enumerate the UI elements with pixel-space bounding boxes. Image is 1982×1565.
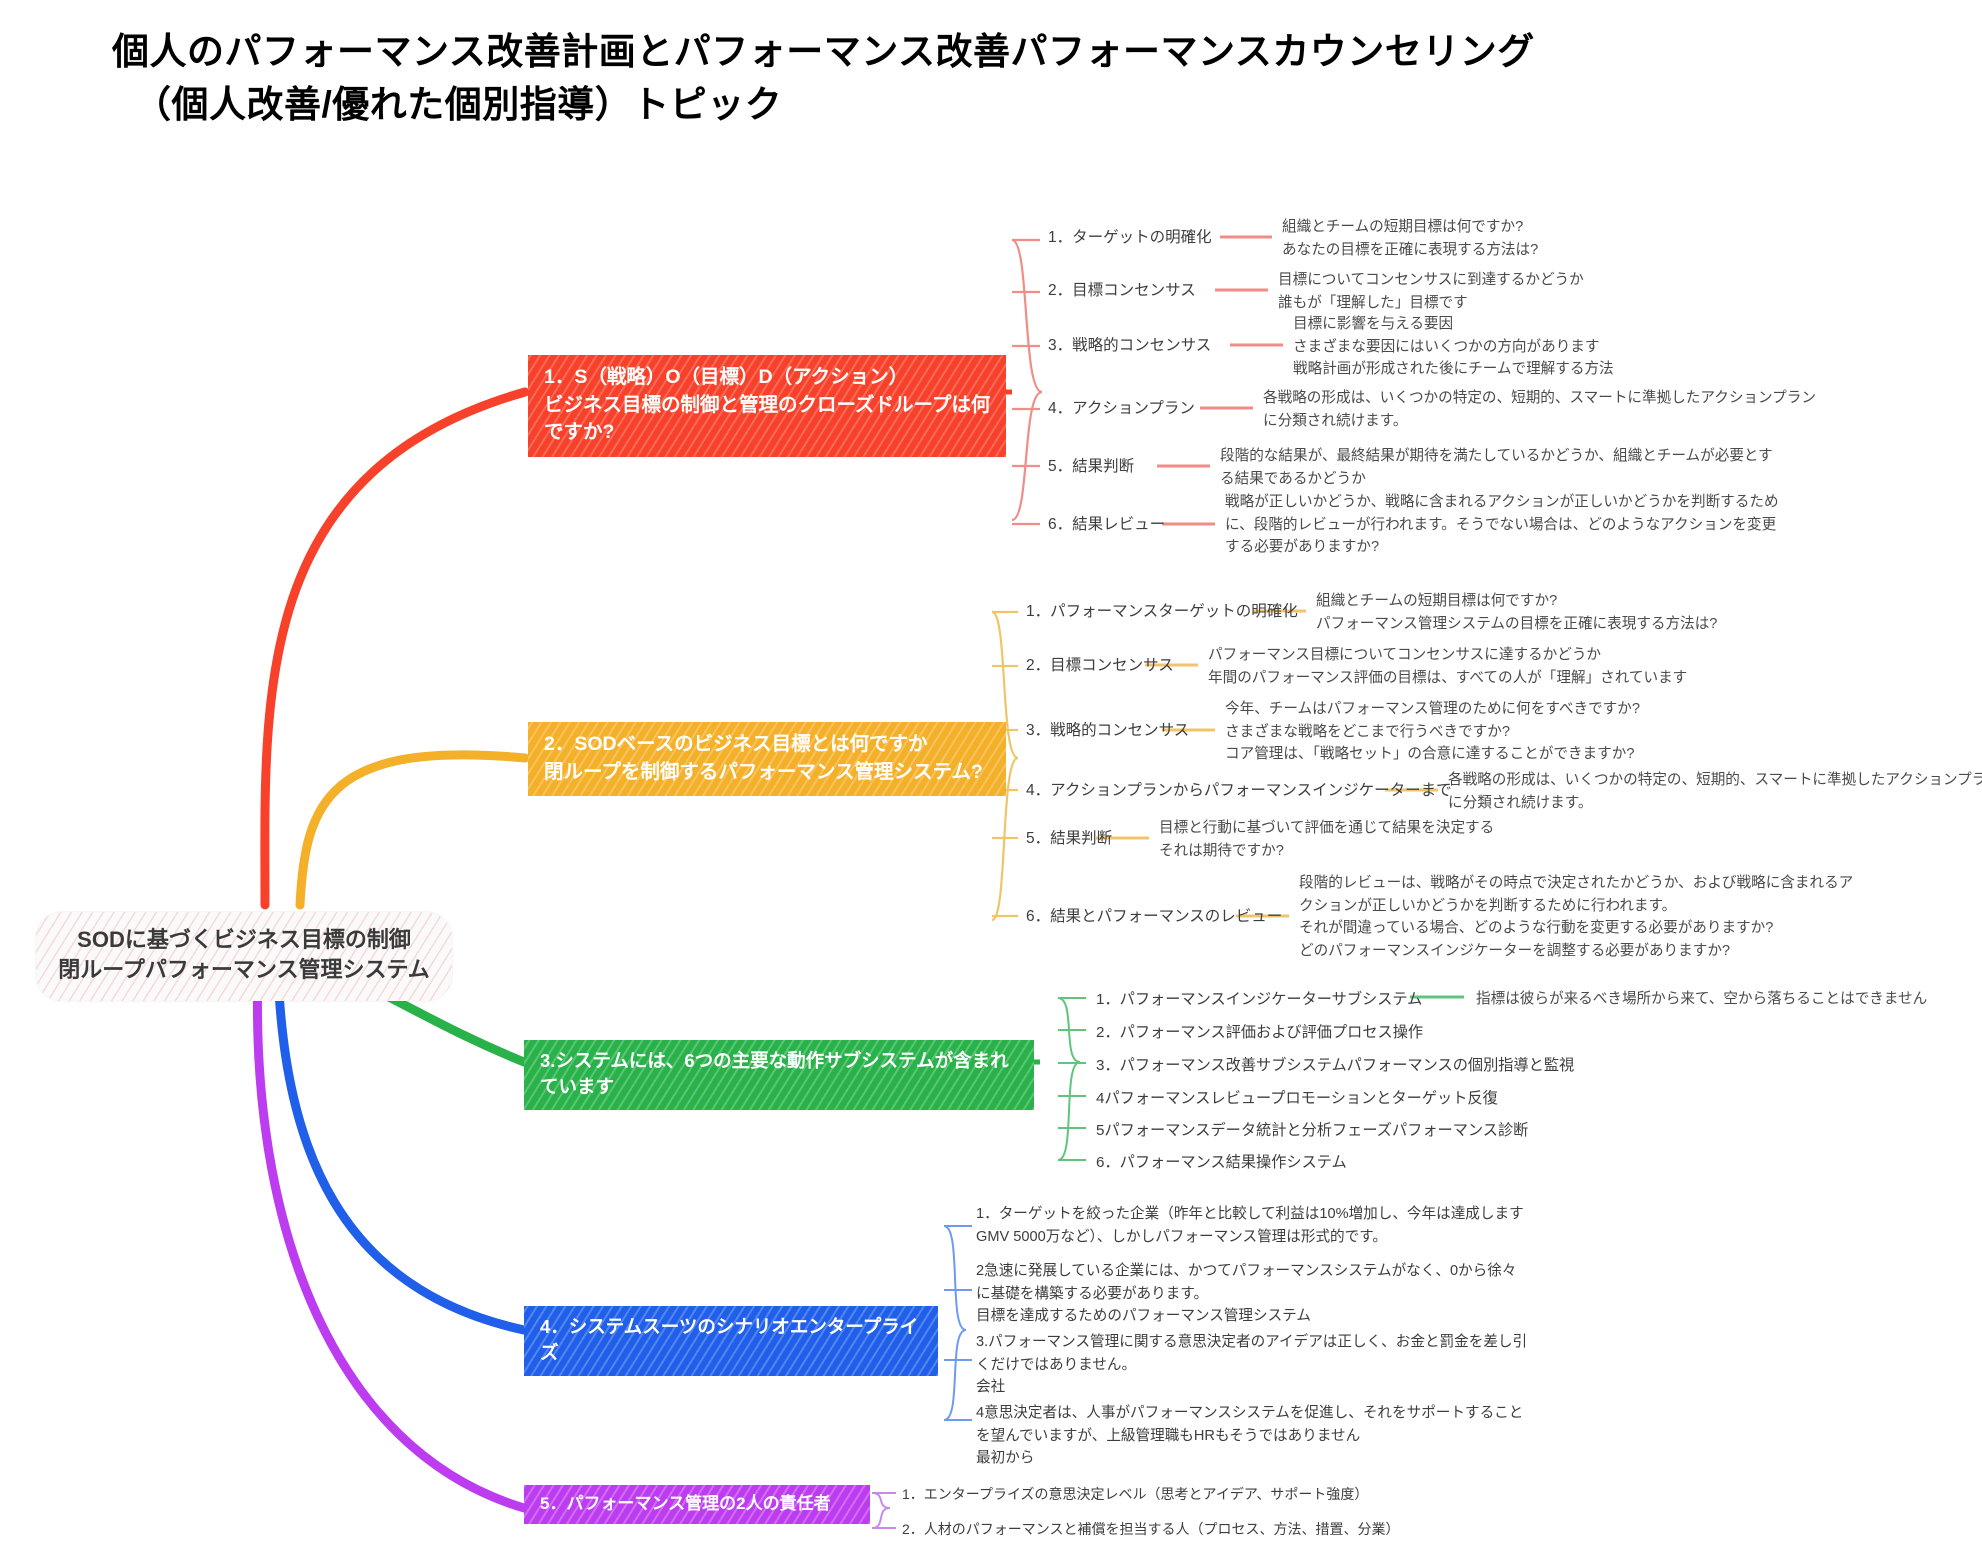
branch-node-1-line2: ビジネス目標の制御と管理のクローズドループは何ですか?: [544, 392, 992, 447]
link-branch-4-stubs: [944, 1226, 972, 1420]
link-root-branch-5: [257, 972, 524, 1508]
node-1-3-desc: 目標に影響を与える要因 さまざまな要因にはいくつかの方向があります 戦略計画が形…: [1293, 313, 1614, 381]
branch-node-3-line1: 3.システムには、6つの主要な動作サブシステムが含まれています: [540, 1048, 1020, 1101]
link-branch-3-fan: [1058, 998, 1080, 1160]
node-2-6-label[interactable]: 6．結果とパフォーマンスのレビュー: [1026, 906, 1282, 928]
link-root-branch-1: [265, 392, 525, 905]
node-1-5-label[interactable]: 5．結果判断: [1048, 456, 1134, 478]
node-4-1-label[interactable]: 1．ターゲットを絞った企業（昨年と比較して利益は10%増加し、今年は達成します …: [976, 1203, 1524, 1248]
node-2-6-desc: 段階的レビューは、戦略がその時点で決定されたかどうか、および戦略に含まれるア ク…: [1299, 872, 1853, 962]
node-2-1-label[interactable]: 1．パフォーマンスターゲットの明確化: [1026, 601, 1298, 623]
node-2-2-desc: パフォーマンス目標についてコンセンサスに達するかどうか 年間のパフォーマンス評価…: [1208, 644, 1687, 689]
branch-node-4[interactable]: 4．システムスーツのシナリオエンタープライズ: [524, 1306, 938, 1376]
branch-node-4-line1: 4．システムスーツのシナリオエンタープライズ: [540, 1314, 924, 1367]
node-1-3-label[interactable]: 3．戦略的コンセンサス: [1048, 335, 1211, 357]
node-3-6-label[interactable]: 6．パフォーマンス結果操作システム: [1096, 1150, 1347, 1172]
node-4-4-label[interactable]: 4意思決定者は、人事がパフォーマンスシステムを促進し、それをサポートすること を…: [976, 1402, 1523, 1470]
node-1-4-label[interactable]: 4．アクションプラン: [1048, 398, 1195, 420]
link-branch-5-fan: [872, 1493, 890, 1528]
node-1-2-label[interactable]: 2．目標コンセンサス: [1048, 280, 1196, 302]
branch-node-1-line1: 1．S（戦略）O（目標）D（アクション）: [544, 364, 992, 392]
link-root-branch-4: [278, 972, 524, 1330]
link-root-branch-2: [300, 755, 525, 905]
node-4-3-label[interactable]: 3.パフォーマンス管理に関する意思決定者のアイデアは正しく、お金と罰金を差し引 …: [976, 1331, 1527, 1399]
root-node-line2: 閉ループパフォーマンス管理システム: [46, 955, 442, 985]
node-5-1-label[interactable]: 1．エンタープライズの意思決定レベル（思考とアイデア、サポート強度）: [902, 1484, 1368, 1504]
link-branch-1-stubs: [1012, 240, 1040, 524]
branch-node-3[interactable]: 3.システムには、6つの主要な動作サブシステムが含まれています: [524, 1040, 1034, 1110]
node-2-3-desc: 今年、チームはパフォーマンス管理のために何をすべきですか? さまざまな戦略をどこ…: [1225, 698, 1640, 766]
branch-node-5[interactable]: 5．パフォーマンス管理の2人の責任者: [524, 1485, 870, 1524]
node-2-1-desc: 組織とチームの短期目標は何ですか? パフォーマンス管理システムの目標を正確に表現…: [1316, 590, 1717, 635]
node-1-1-label[interactable]: 1．ターゲットの明確化: [1048, 227, 1212, 249]
link-branch-3-stubs: [1058, 998, 1086, 1160]
node-2-2-label[interactable]: 2．目標コンセンサス: [1026, 655, 1174, 677]
node-1-6-label[interactable]: 6．結果レビュー: [1048, 514, 1165, 536]
node-3-4-label[interactable]: 4パフォーマンスレビュープロモーションとターゲット反復: [1096, 1086, 1498, 1108]
node-2-5-desc: 目標と行動に基づいて評価を通じて結果を決定する それは期待ですか?: [1159, 817, 1494, 862]
branch-node-2-line1: 2．SODベースのビジネス目標とは何ですか: [544, 731, 992, 759]
branch-node-2-line2: 閉ループを制御するパフォーマンス管理システム?: [544, 759, 992, 787]
node-1-5-desc: 段階的な結果が、最終結果が期待を満たしているかどうか、組織とチームが必要とす る…: [1220, 445, 1773, 490]
root-node-line1: SODに基づくビジネス目標の制御: [46, 925, 442, 955]
page-title-line2: （個人改善/優れた個別指導）トピック: [112, 79, 1872, 132]
node-2-3-label[interactable]: 3．戦略的コンセンサス: [1026, 720, 1189, 742]
branch-node-2[interactable]: 2．SODベースのビジネス目標とは何ですか 閉ループを制御するパフォーマンス管理…: [528, 722, 1006, 796]
node-1-1-desc: 組織とチームの短期目標は何ですか? あなたの目標を正確に表現する方法は?: [1282, 216, 1538, 261]
node-1-6-desc: 戦略が正しいかどうか、戦略に含まれるアクションが正しいかどうかを判断するため に…: [1225, 491, 1779, 559]
page-title-line1: 個人のパフォーマンス改善計画とパフォーマンス改善パフォーマンスカウンセリング: [112, 31, 1535, 72]
node-2-5-label[interactable]: 5．結果判断: [1026, 828, 1112, 850]
node-1-2-desc: 目標についてコンセンサスに到達するかどうか 誰もが「理解した」目標です: [1278, 269, 1584, 314]
node-3-1-label[interactable]: 1．パフォーマンスインジケーターサブシステム: [1096, 987, 1422, 1009]
node-2-4-label[interactable]: 4．アクションプランからパフォーマンスインジケーターまで: [1026, 780, 1452, 802]
node-5-2-label[interactable]: 2．人材のパフォーマンスと補償を担当する人（プロセス、方法、措置、分業）: [902, 1519, 1400, 1539]
mindmap-canvas: 個人のパフォーマンス改善計画とパフォーマンス改善パフォーマンスカウンセリング （…: [0, 0, 1982, 1565]
link-branch-5-stubs: [872, 1493, 896, 1528]
page-title: 個人のパフォーマンス改善計画とパフォーマンス改善パフォーマンスカウンセリング （…: [112, 26, 1872, 131]
node-3-3-label[interactable]: 3．パフォーマンス改善サブシステムパフォーマンスの個別指導と監視: [1096, 1053, 1574, 1075]
node-2-4-desc: 各戦略の形成は、いくつかの特定の、短期的、スマートに準拠したアクションプラン に…: [1448, 769, 1982, 814]
link-branch-1-fan: [1012, 240, 1042, 520]
node-3-5-label[interactable]: 5パフォーマンスデータ統計と分析フェーズパフォーマンス診断: [1096, 1118, 1528, 1140]
node-3-2-label[interactable]: 2．パフォーマンス評価および評価プロセス操作: [1096, 1020, 1423, 1042]
link-branch-4-fan: [944, 1226, 966, 1420]
node-4-2-label[interactable]: 2急速に発展している企業には、かつてパフォーマンスシステムがなく、0から徐々 に…: [976, 1260, 1516, 1328]
root-node[interactable]: SODに基づくビジネス目標の制御 閉ループパフォーマンス管理システム: [36, 912, 452, 1001]
node-3-1-desc: 指標は彼らが来るべき場所から来て、空から落ちることはできません: [1476, 988, 1927, 1011]
node-1-4-desc: 各戦略の形成は、いくつかの特定の、短期的、スマートに準拠したアクションプラン に…: [1263, 387, 1816, 432]
branch-node-5-line1: 5．パフォーマンス管理の2人の責任者: [540, 1492, 856, 1516]
branch-node-1[interactable]: 1．S（戦略）O（目標）D（アクション） ビジネス目標の制御と管理のクローズドル…: [528, 355, 1006, 457]
